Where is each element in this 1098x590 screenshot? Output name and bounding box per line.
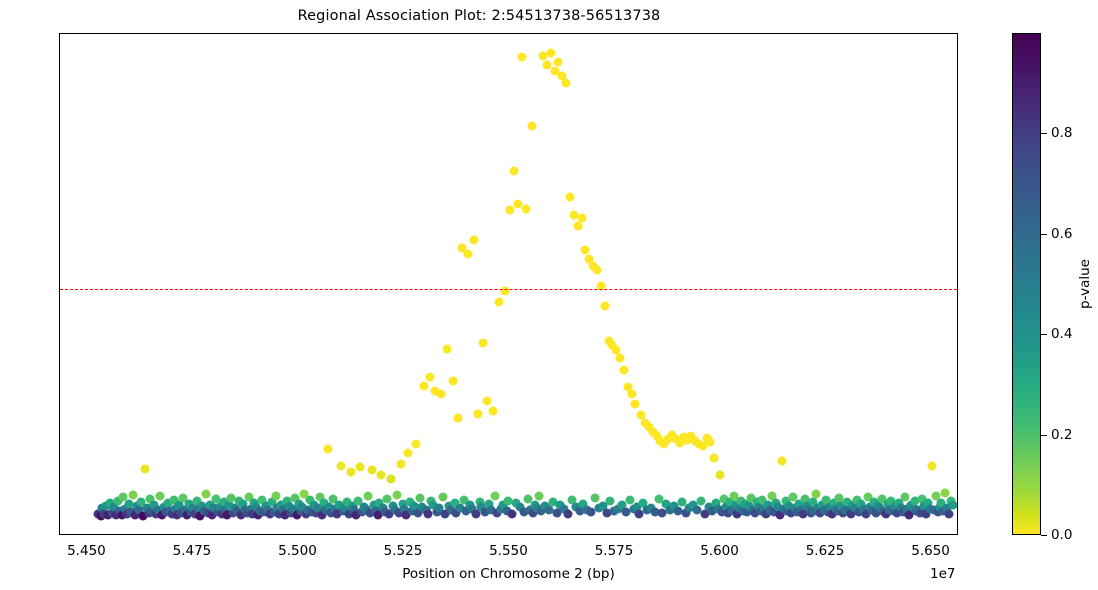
x-axis-tick-label: 5.500 — [278, 543, 317, 559]
scatter-point — [473, 409, 482, 418]
scatter-point — [546, 49, 555, 58]
scatter-points-layer — [60, 34, 957, 534]
x-axis-tick — [404, 534, 405, 535]
scatter-point — [616, 354, 625, 363]
scatter-point — [494, 297, 503, 306]
scatter-point — [356, 463, 365, 472]
x-axis-tick-label: 5.525 — [384, 543, 423, 559]
y-axis-tick — [59, 392, 60, 393]
y-axis-tick — [59, 205, 60, 206]
significance-threshold-line — [60, 289, 957, 290]
scatter-point — [323, 444, 332, 453]
colorbar-tick — [1041, 435, 1047, 436]
scatter-point — [600, 301, 609, 310]
colorbar-tick-label: 0.6 — [1051, 226, 1072, 242]
scatter-point — [535, 492, 544, 501]
scatter-point — [927, 462, 936, 471]
scatter-point — [387, 474, 396, 483]
scatter-point — [438, 493, 447, 502]
scatter-point — [566, 193, 575, 202]
x-axis-tick — [615, 534, 616, 535]
x-axis-tick-label: 5.475 — [173, 543, 212, 559]
x-axis-tick-label: 5.650 — [911, 543, 950, 559]
scatter-point — [454, 413, 463, 422]
scatter-point — [336, 462, 345, 471]
x-axis-tick — [826, 534, 827, 535]
scatter-point — [483, 397, 492, 406]
x-axis-tick — [932, 534, 933, 535]
scatter-point — [469, 235, 478, 244]
scatter-point — [437, 389, 446, 398]
scatter-point — [346, 467, 355, 476]
scatter-point — [554, 58, 563, 67]
scatter-point — [591, 494, 600, 503]
scatter-point — [627, 389, 636, 398]
x-axis-tick-label: 5.550 — [489, 543, 528, 559]
scatter-point — [396, 459, 405, 468]
scatter-point — [129, 490, 138, 499]
scatter-point — [517, 53, 526, 62]
scatter-point — [140, 465, 149, 474]
y-axis-tick — [59, 143, 60, 144]
scatter-point — [710, 454, 719, 463]
scatter-point — [448, 377, 457, 386]
x-axis-offset-multiplier: 1e7 — [930, 566, 955, 582]
scatter-point — [949, 501, 958, 510]
y-axis-tick — [59, 454, 60, 455]
scatter-point — [367, 465, 376, 474]
scatter-point — [442, 345, 451, 354]
colorbar-tick — [1041, 334, 1047, 335]
scatter-point — [506, 205, 515, 214]
x-axis-tick — [193, 534, 194, 535]
x-axis-tick — [721, 534, 722, 535]
colorbar-tick-label: 0.4 — [1051, 326, 1072, 342]
colorbar-tick-label: 0.0 — [1051, 527, 1072, 543]
page-title: Regional Association Plot: 2:54513738-56… — [0, 8, 958, 24]
colorbar-tick — [1041, 535, 1047, 536]
colorbar[interactable]: 0.00.20.40.60.8 — [1012, 33, 1041, 535]
scatter-point — [490, 491, 499, 500]
colorbar-tick-label: 0.8 — [1051, 125, 1072, 141]
scatter-point — [500, 286, 509, 295]
scatter-point — [562, 79, 571, 88]
x-axis-label: Position on Chromosome 2 (bp) — [59, 566, 958, 582]
plot-axes — [59, 33, 958, 535]
scatter-point — [945, 509, 954, 518]
scatter-point — [812, 490, 821, 499]
x-axis-tick-label: 5.600 — [700, 543, 739, 559]
scatter-point — [592, 266, 601, 275]
x-axis-tick — [87, 534, 88, 535]
scatter-point — [464, 250, 473, 259]
scatter-point — [479, 338, 488, 347]
colorbar-tick — [1041, 133, 1047, 134]
scatter-point — [423, 510, 432, 519]
colorbar-tick — [1041, 234, 1047, 235]
colorbar-gradient — [1012, 33, 1041, 535]
scatter-point — [377, 470, 386, 479]
y-axis-tick — [59, 81, 60, 82]
scatter-point — [202, 490, 211, 499]
scatter-point — [419, 381, 428, 390]
scatter-point — [508, 510, 517, 519]
scatter-point — [619, 365, 628, 374]
scatter-point — [404, 448, 413, 457]
scatter-point — [606, 497, 615, 506]
scatter-point — [716, 470, 725, 479]
scatter-point — [777, 457, 786, 466]
x-axis-tick-label: 5.575 — [595, 543, 634, 559]
scatter-point — [631, 399, 640, 408]
scatter-point — [489, 407, 498, 416]
y-axis-tick — [59, 330, 60, 331]
scatter-point — [527, 121, 536, 130]
scatter-point — [415, 494, 424, 503]
x-axis-tick — [298, 534, 299, 535]
scatter-point — [425, 373, 434, 382]
scatter-point — [510, 167, 519, 176]
regional-association-figure: Regional Association Plot: 2:54513738-56… — [0, 0, 1098, 590]
y-axis-tick — [59, 517, 60, 518]
scatter-point — [706, 437, 715, 446]
colorbar-tick-label: 0.2 — [1051, 427, 1072, 443]
scatter-point — [412, 439, 421, 448]
scatter-point — [363, 492, 372, 501]
scatter-point — [271, 491, 280, 500]
scatter-point — [521, 205, 530, 214]
scatter-point — [577, 214, 586, 223]
scatter-point — [392, 490, 401, 499]
colorbar-label: p-value — [1077, 259, 1093, 309]
x-axis-tick-label: 5.625 — [806, 543, 845, 559]
x-axis-tick-label: 5.450 — [67, 543, 106, 559]
scatter-point — [564, 509, 573, 518]
y-axis-tick — [59, 268, 60, 269]
x-axis-tick — [510, 534, 511, 535]
